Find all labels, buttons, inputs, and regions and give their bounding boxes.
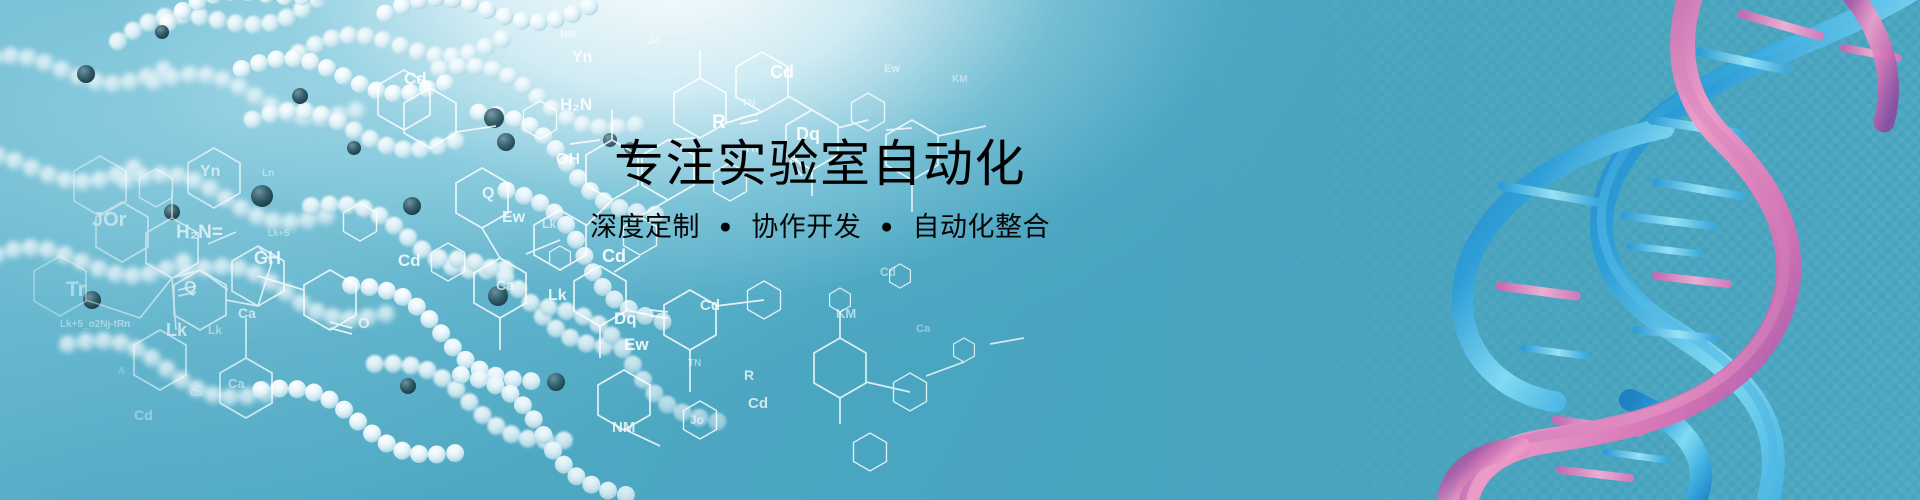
dna-double-helix-decoration <box>0 0 1920 500</box>
bullet-separator-icon: ● <box>869 215 904 238</box>
subtitle-part-1: 深度定制 <box>590 212 700 242</box>
subtitle-part-3: 自动化整合 <box>912 212 1050 242</box>
dna-helix-group <box>1448 0 1920 500</box>
subtitle-part-2: 协作开发 <box>751 212 861 242</box>
page-title: 专注实验室自动化 <box>556 138 1084 191</box>
bullet-separator-icon: ● <box>708 215 743 238</box>
hero-banner: CdNMJoYnCdTNEwKMRYnDqH₂NOHQEwCaLkCdCdLkC… <box>0 0 1920 500</box>
hero-subtitle: 深度定制 ● 协作开发 ● 自动化整合 <box>556 213 1084 243</box>
hero-copy-block: 专注实验室自动化 深度定制 ● 协作开发 ● 自动化整合 <box>556 138 1084 243</box>
